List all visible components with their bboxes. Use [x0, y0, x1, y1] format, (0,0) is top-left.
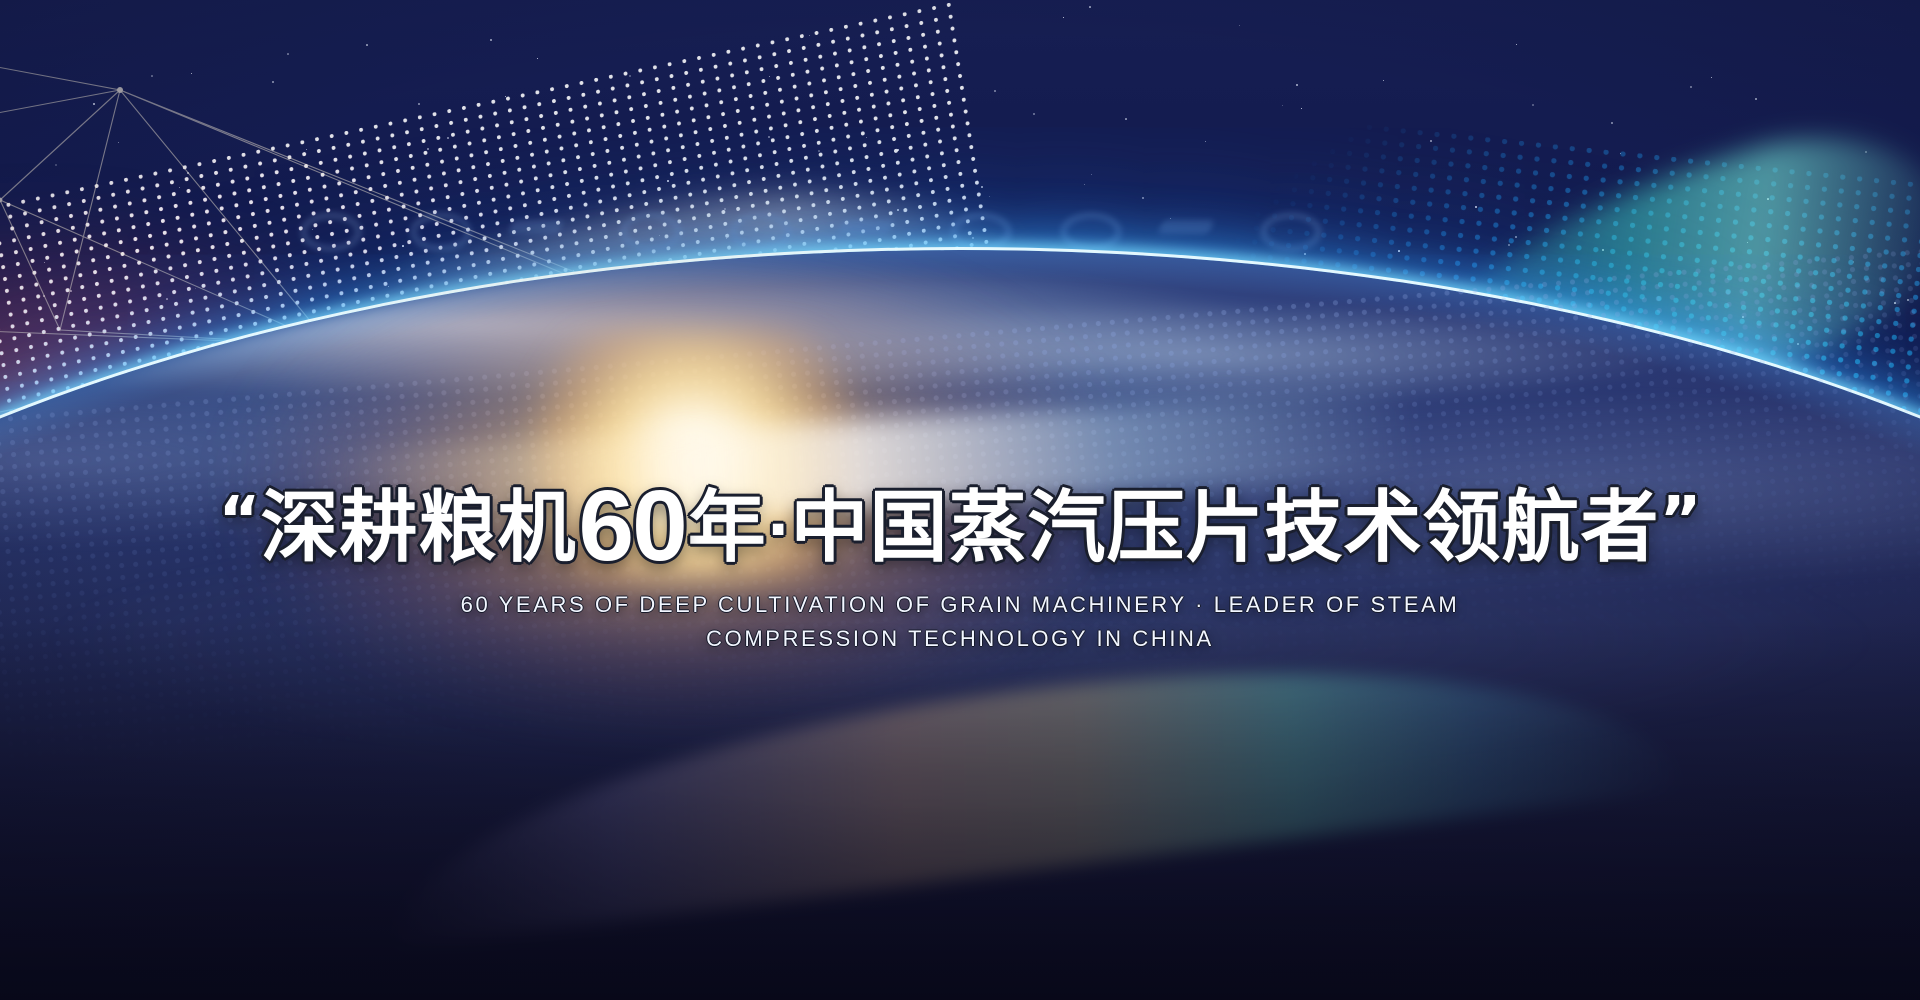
headline-number: 60	[578, 470, 685, 582]
hero-banner: “深耕粮机60年·中国蒸汽压片技术领航者” 60 YEARS OF DEEP C…	[0, 0, 1920, 1000]
opening-quote: “	[218, 484, 260, 558]
headline-part-1: 深耕粮机	[260, 483, 576, 573]
subtitle-line-1: 60 YEARS OF DEEP CULTIVATION OF GRAIN MA…	[461, 592, 1460, 617]
subtitle: 60 YEARS OF DEEP CULTIVATION OF GRAIN MA…	[410, 588, 1510, 656]
closing-quote: ”	[1660, 484, 1702, 558]
headline-separator: ·	[767, 495, 791, 565]
page-title: “深耕粮机60年·中国蒸汽压片技术领航者”	[0, 470, 1920, 570]
subtitle-line-2: COMPRESSION TECHNOLOGY IN CHINA	[706, 626, 1214, 651]
headline-block: “深耕粮机60年·中国蒸汽压片技术领航者” 60 YEARS OF DEEP C…	[0, 470, 1920, 656]
headline-part-2: 年	[688, 483, 767, 573]
headline-part-3: 中国蒸汽压片技术领航者	[791, 483, 1660, 573]
